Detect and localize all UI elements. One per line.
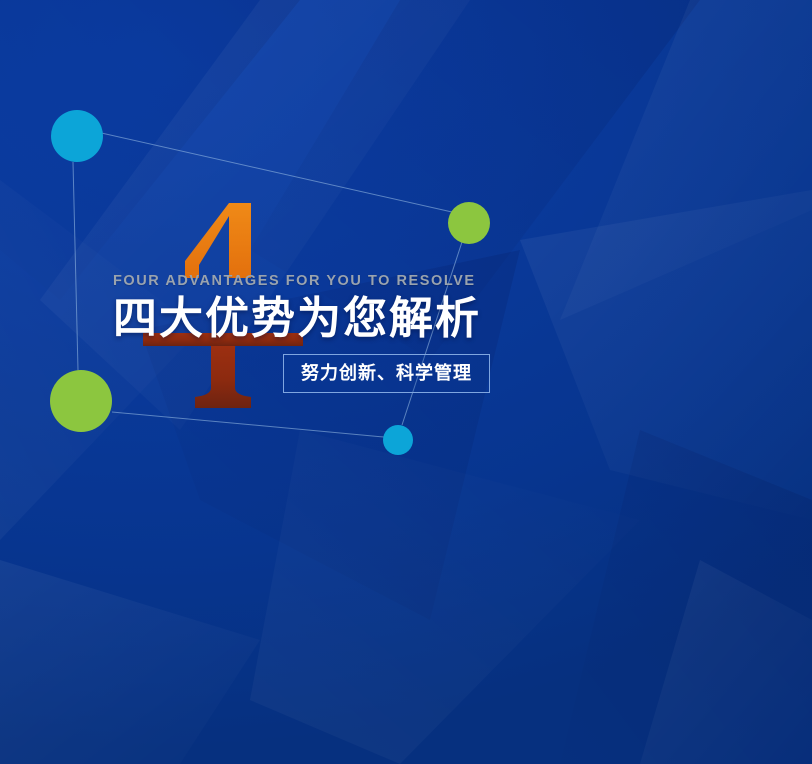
- link-cyan-top-left-to-green-right: [97, 132, 452, 212]
- banner-root: FOUR ADVANTAGES FOR YOU TO RESOLVE 四大优势为…: [0, 0, 812, 764]
- tagline-badge: 努力创新、科学管理: [283, 354, 490, 393]
- node-cyan-bottom: [383, 425, 413, 455]
- page-title: 四大优势为您解析: [113, 289, 673, 342]
- link-green-bottom-to-cyan-bottom: [112, 412, 384, 437]
- node-green-bottom-left: [50, 370, 112, 432]
- node-cyan-top-left: [51, 110, 103, 162]
- tagline-row: 努力创新、科学管理: [113, 342, 673, 393]
- banner-eyebrow: FOUR ADVANTAGES FOR YOU TO RESOLVE: [113, 205, 673, 289]
- link-cyan-top-left-to-green-bottom: [73, 162, 78, 370]
- banner-content: FOUR ADVANTAGES FOR YOU TO RESOLVE 四大优势为…: [113, 205, 673, 393]
